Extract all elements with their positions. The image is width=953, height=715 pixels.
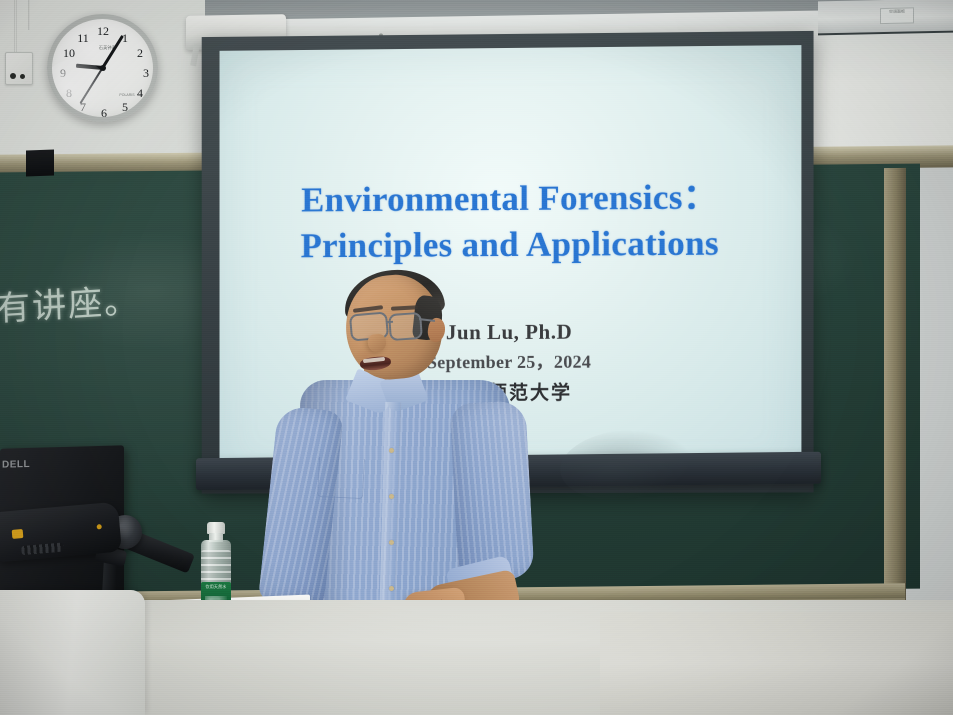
lecture-photo-scene: 空调面板 石英钟表 POLARIS 12 1 2 3 4 5 6 7 8 9 1… bbox=[0, 0, 953, 715]
slide-title-line-1: Environmental Forensics： bbox=[301, 177, 718, 219]
switch-knob-left[interactable] bbox=[10, 73, 16, 79]
clock-numeral-2: 2 bbox=[133, 46, 147, 61]
air-conditioner-unit: 空调面板 bbox=[818, 0, 953, 35]
switch-knob-right[interactable] bbox=[20, 74, 25, 79]
shirt-button bbox=[389, 586, 394, 591]
shirt-button bbox=[389, 494, 394, 499]
microphone-indicator-light-secondary bbox=[96, 524, 101, 529]
microphone-indicator-light bbox=[12, 529, 24, 539]
shirt-button bbox=[389, 448, 394, 453]
clock-numeral-4: 4 bbox=[133, 86, 147, 101]
chalkboard-frame-right bbox=[884, 168, 906, 614]
microphone-vent-grille bbox=[21, 543, 64, 556]
front-wall-lower-right bbox=[600, 612, 953, 715]
ac-label: 空调面板 bbox=[880, 7, 914, 24]
clock-numeral-5: 5 bbox=[118, 100, 132, 115]
eyeglasses-lens-right bbox=[388, 312, 423, 341]
presenter-shirt-pocket bbox=[317, 457, 365, 499]
shirt-button bbox=[389, 540, 394, 545]
wall-clock: 石英钟表 POLARIS 12 1 2 3 4 5 6 7 8 9 10 11 bbox=[47, 14, 158, 122]
podium-front-panel bbox=[0, 590, 145, 715]
clock-numeral-12: 12 bbox=[96, 24, 110, 39]
clock-numeral-3: 3 bbox=[139, 66, 153, 81]
wall-switch-plate[interactable] bbox=[5, 52, 33, 85]
conduit-pipe bbox=[14, 0, 17, 54]
clock-minute-hand bbox=[101, 35, 124, 69]
bottle-label-text: 饮用天然水 bbox=[201, 584, 231, 589]
dell-logo: DELL bbox=[2, 459, 28, 473]
presenter-right-arm bbox=[449, 400, 534, 582]
slide-title: Environmental Forensics： Principles and … bbox=[301, 174, 719, 269]
bottle-ribs bbox=[201, 550, 231, 584]
chalkboard-writing: 有讲座。 bbox=[0, 274, 117, 330]
clock-numeral-11: 11 bbox=[76, 31, 90, 46]
monitor-stand bbox=[26, 150, 54, 177]
conduit-pipe-secondary bbox=[28, 0, 30, 30]
